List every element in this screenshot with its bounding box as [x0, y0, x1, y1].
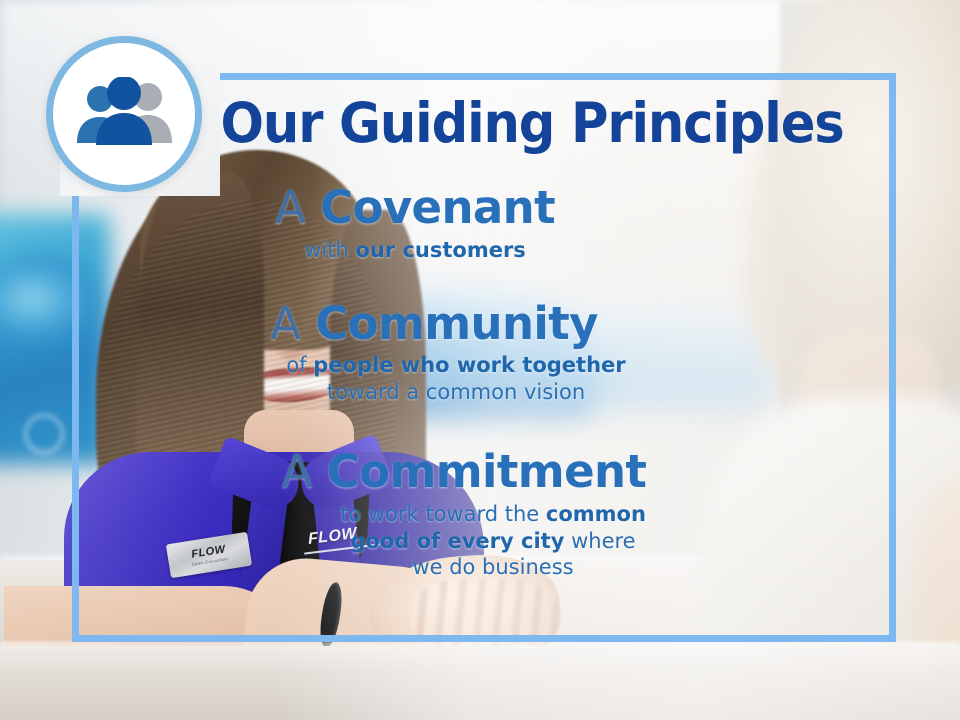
principle-commitment: A Commitment to work toward the common g…: [0, 448, 868, 581]
principle-covenant-heading: A Covenant: [0, 184, 868, 232]
principle-community-lead: A: [270, 297, 301, 350]
commitment-sub-e: we do business: [412, 555, 573, 579]
community-sub-a: of: [286, 353, 313, 377]
community-sub-c: toward a common vision: [327, 380, 585, 404]
principle-community-keyword: Community: [315, 297, 598, 350]
page-title: Our Guiding Principles: [34, 96, 927, 151]
covenant-sub-a: with: [304, 238, 355, 262]
principle-covenant-subtext: with our customers: [0, 237, 868, 264]
commitment-sub-b: common: [546, 502, 646, 526]
principle-community-heading: A Community: [0, 300, 868, 348]
principle-covenant-keyword: Covenant: [320, 181, 555, 234]
principle-commitment-subtext: to work toward the common good of every …: [0, 501, 868, 582]
desk-front-panel: [0, 646, 960, 720]
principle-covenant: A Covenant with our customers: [0, 184, 868, 264]
guiding-principles-graphic: FLOW Sales Consultant FLOW: [0, 0, 960, 720]
principle-commitment-keyword: Commitment: [327, 445, 647, 498]
principle-commitment-lead: A: [282, 445, 313, 498]
principle-covenant-lead: A: [275, 181, 306, 234]
principle-community-subtext: of people who work together toward a com…: [0, 352, 868, 406]
commitment-sub-c: good of every city: [350, 529, 564, 553]
principles-list: A Covenant with our customers A Communit…: [0, 184, 960, 585]
commitment-sub-d: where: [564, 529, 635, 553]
principle-community: A Community of people who work together …: [0, 300, 868, 406]
covenant-sub-b: our customers: [355, 238, 525, 262]
principle-commitment-heading: A Commitment: [0, 448, 868, 496]
community-sub-b: people who work together: [313, 353, 625, 377]
commitment-sub-a: to work toward the: [340, 502, 546, 526]
